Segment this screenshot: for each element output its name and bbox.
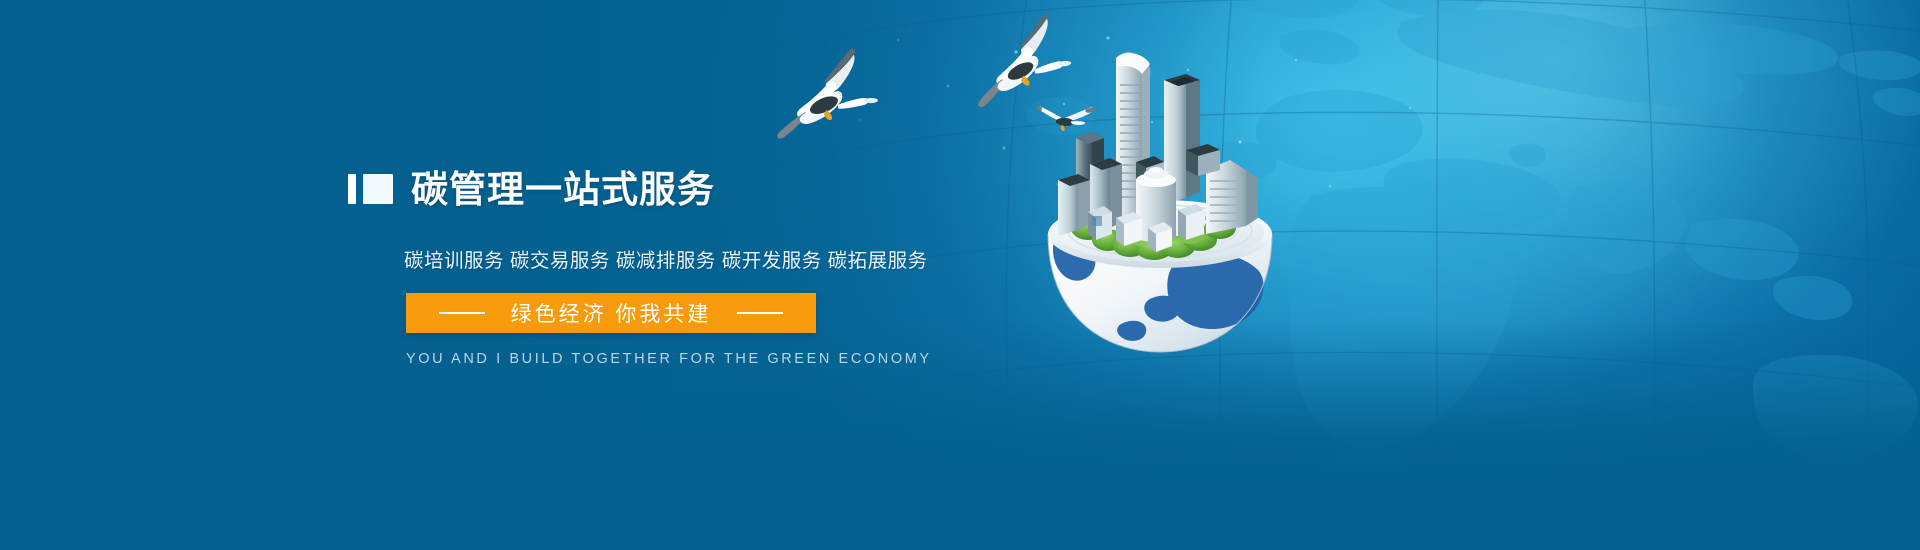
hero-banner: 碳管理一站式服务 碳培训服务 碳交易服务 碳减排服务 碳开发服务 碳拓展服务 绿… [0, 0, 1920, 550]
headline-row: 碳管理一站式服务 [348, 146, 1048, 233]
slogan-text: 绿色经济 你我共建 [511, 298, 712, 328]
page-title: 碳管理一站式服务 [411, 171, 715, 208]
earth-city-graphic [1030, 22, 1290, 352]
seagull-icon [760, 42, 889, 150]
brand-square-icon [363, 174, 393, 204]
slogan-dash-right [737, 312, 783, 314]
english-tagline: YOU AND I BUILD TOGETHER FOR THE GREEN E… [406, 351, 1048, 367]
banner-copy: 碳管理一站式服务 碳培训服务 碳交易服务 碳减排服务 碳开发服务 碳拓展服务 绿… [348, 146, 1048, 367]
slogan-dash-left [439, 312, 485, 314]
brand-bar-icon [348, 174, 356, 204]
services-list: 碳培训服务 碳交易服务 碳减排服务 碳开发服务 碳拓展服务 [404, 244, 1048, 273]
brand-mark-icon [348, 174, 393, 204]
slogan-banner: 绿色经济 你我共建 [406, 293, 816, 333]
